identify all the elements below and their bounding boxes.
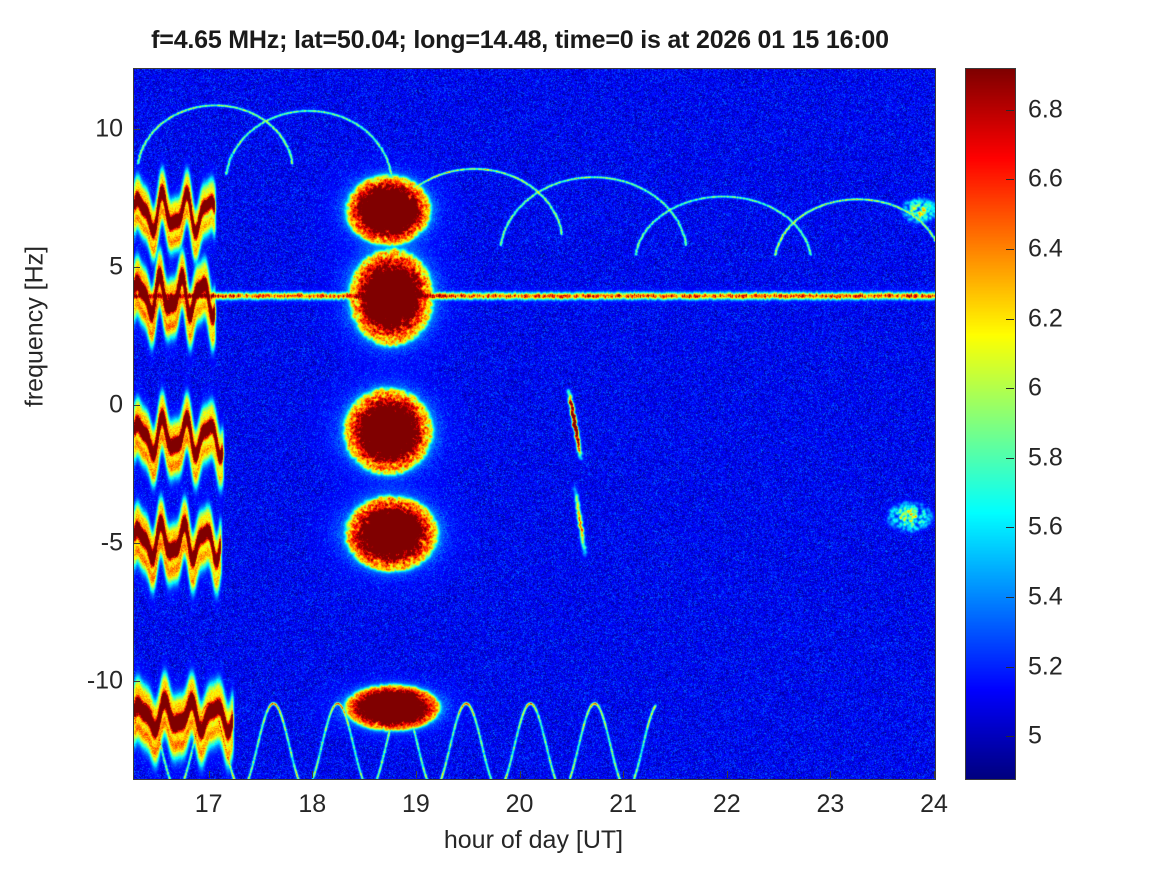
colorbar-tick-label: 5.2 <box>1028 652 1063 681</box>
colorbar-gradient <box>966 69 1015 779</box>
x-tick-mark <box>623 771 624 778</box>
colorbar-tick-label: 6.2 <box>1028 304 1063 333</box>
colorbar-tick-label: 5.4 <box>1028 583 1063 612</box>
colorbar-tick-label: 6 <box>1028 374 1042 403</box>
x-tick-label: 19 <box>402 790 430 819</box>
colorbar-tick-mark <box>1006 388 1014 389</box>
y-tick-label: 10 <box>13 114 123 143</box>
x-tick-mark <box>830 771 831 778</box>
spectrogram-canvas <box>134 69 935 779</box>
x-tick-label: 24 <box>920 790 948 819</box>
x-tick-label: 21 <box>609 790 637 819</box>
colorbar-tick-mark <box>1006 597 1014 598</box>
y-tick-label: -5 <box>13 529 123 558</box>
y-tick-mark <box>133 129 140 130</box>
x-tick-mark <box>312 771 313 778</box>
x-tick-mark <box>416 771 417 778</box>
y-tick-mark <box>133 405 140 406</box>
colorbar-tick-mark <box>1006 179 1014 180</box>
colorbar <box>965 68 1016 780</box>
colorbar-tick-label: 5 <box>1028 722 1042 751</box>
y-tick-label: -10 <box>13 667 123 696</box>
y-tick-mark <box>133 681 140 682</box>
figure-root: f=4.65 MHz; lat=50.04; long=14.48, time=… <box>0 0 1167 875</box>
colorbar-tick-mark <box>1006 527 1014 528</box>
colorbar-tick-label: 5.8 <box>1028 443 1063 472</box>
colorbar-tick-label: 5.6 <box>1028 513 1063 542</box>
x-tick-label: 22 <box>713 790 741 819</box>
x-tick-label: 20 <box>506 790 534 819</box>
x-tick-label: 18 <box>298 790 326 819</box>
x-tick-mark <box>934 771 935 778</box>
x-tick-mark <box>209 771 210 778</box>
y-axis-label: frequency [Hz] <box>21 217 50 437</box>
colorbar-tick-mark <box>1006 319 1014 320</box>
colorbar-tick-mark <box>1006 667 1014 668</box>
colorbar-tick-mark <box>1006 736 1014 737</box>
spectrogram-plot-area <box>133 68 936 780</box>
colorbar-tick-label: 6.4 <box>1028 234 1063 263</box>
y-tick-mark <box>133 267 140 268</box>
colorbar-tick-mark <box>1006 249 1014 250</box>
figure-title: f=4.65 MHz; lat=50.04; long=14.48, time=… <box>0 26 1040 55</box>
colorbar-tick-mark <box>1006 110 1014 111</box>
colorbar-tick-mark <box>1006 458 1014 459</box>
x-axis-label: hour of day [UT] <box>133 826 934 855</box>
colorbar-tick-label: 6.8 <box>1028 95 1063 124</box>
x-tick-label: 23 <box>816 790 844 819</box>
x-tick-label: 17 <box>195 790 223 819</box>
x-tick-mark <box>520 771 521 778</box>
y-tick-mark <box>133 543 140 544</box>
colorbar-tick-label: 6.6 <box>1028 165 1063 194</box>
x-tick-mark <box>727 771 728 778</box>
